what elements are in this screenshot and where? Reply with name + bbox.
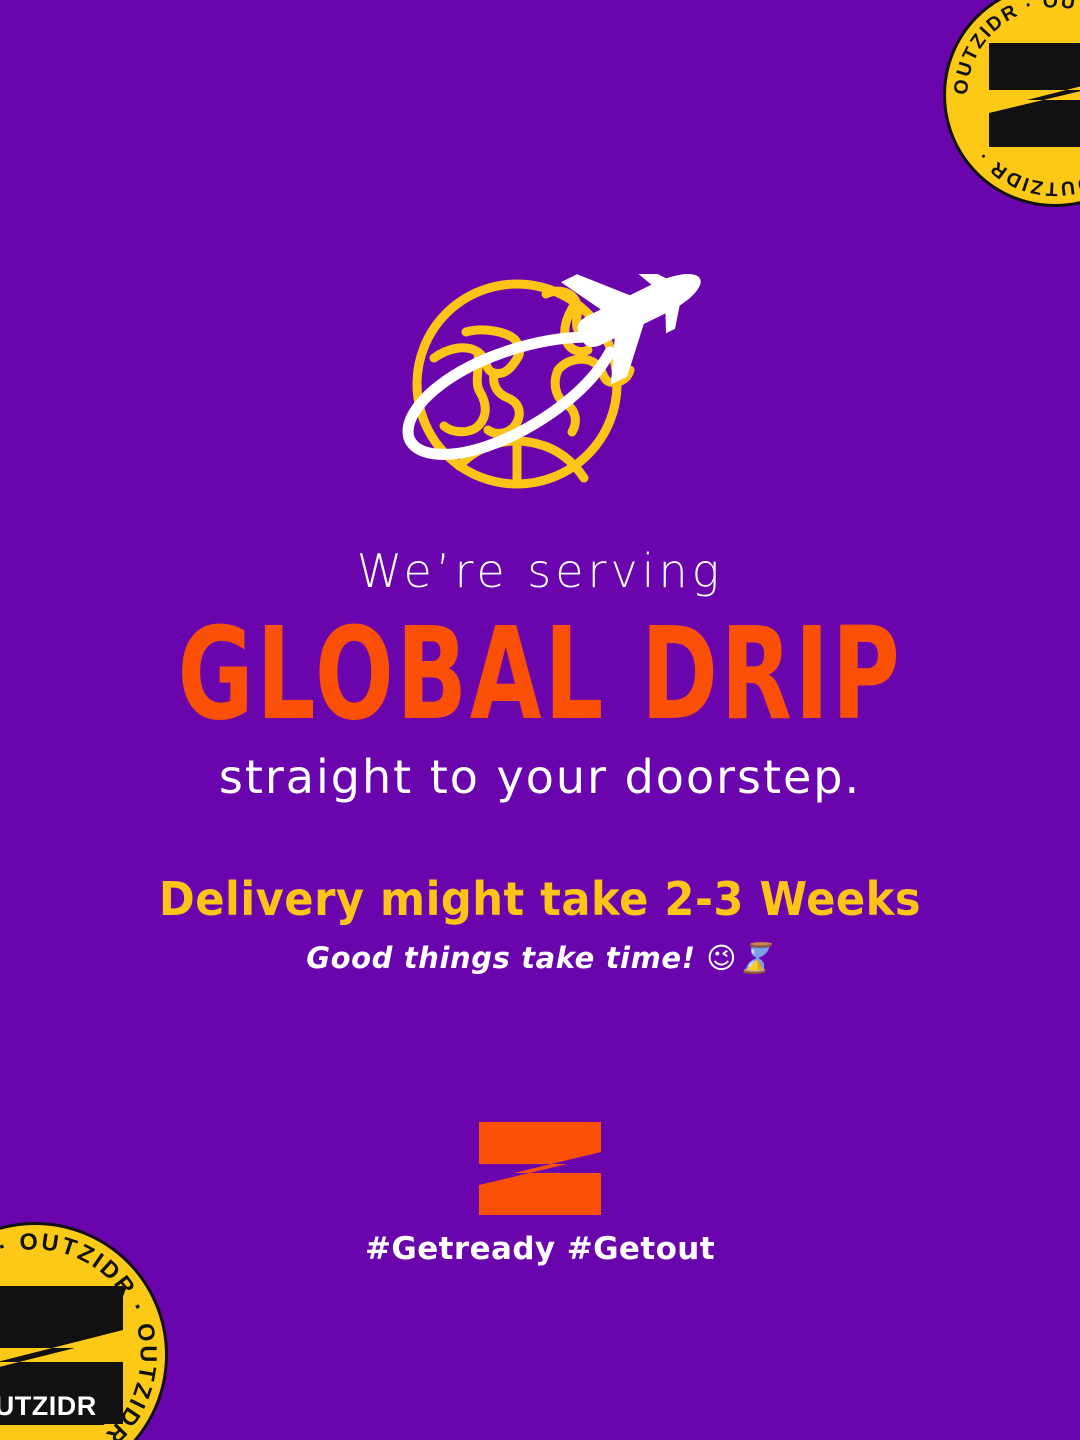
badge-top-right: OUTZIDR · OUTZIDR · OUTZIDR · OUTZIDR · … [943, 0, 1080, 207]
subline-text: straight to your doorstep. [0, 754, 1080, 800]
hashtags-text: #Getready #Getout [0, 1234, 1080, 1265]
footer-lockup: #Getready #Getout [0, 1122, 1080, 1265]
delivery-note-text: Good things take time! 😉⌛ [0, 944, 1080, 973]
z-logo-icon [479, 1122, 601, 1215]
copy-block: We’re serving GLOBAL DRIP straight to yo… [0, 548, 1080, 973]
eyebrow-text: We’re serving [0, 548, 1080, 594]
badge-wordmark-bottom-left: OUTZIDR [0, 1389, 105, 1425]
headline-text: GLOBAL DRIP [76, 612, 1005, 739]
z-logo-icon [989, 43, 1080, 147]
poster-canvas: OUTZIDR · OUTZIDR · OUTZIDR · OUTZIDR · … [0, 0, 1080, 1440]
delivery-notice-text: Delivery might take 2-3 Weeks [32, 876, 1047, 922]
globe-airplane-icon [362, 274, 718, 514]
